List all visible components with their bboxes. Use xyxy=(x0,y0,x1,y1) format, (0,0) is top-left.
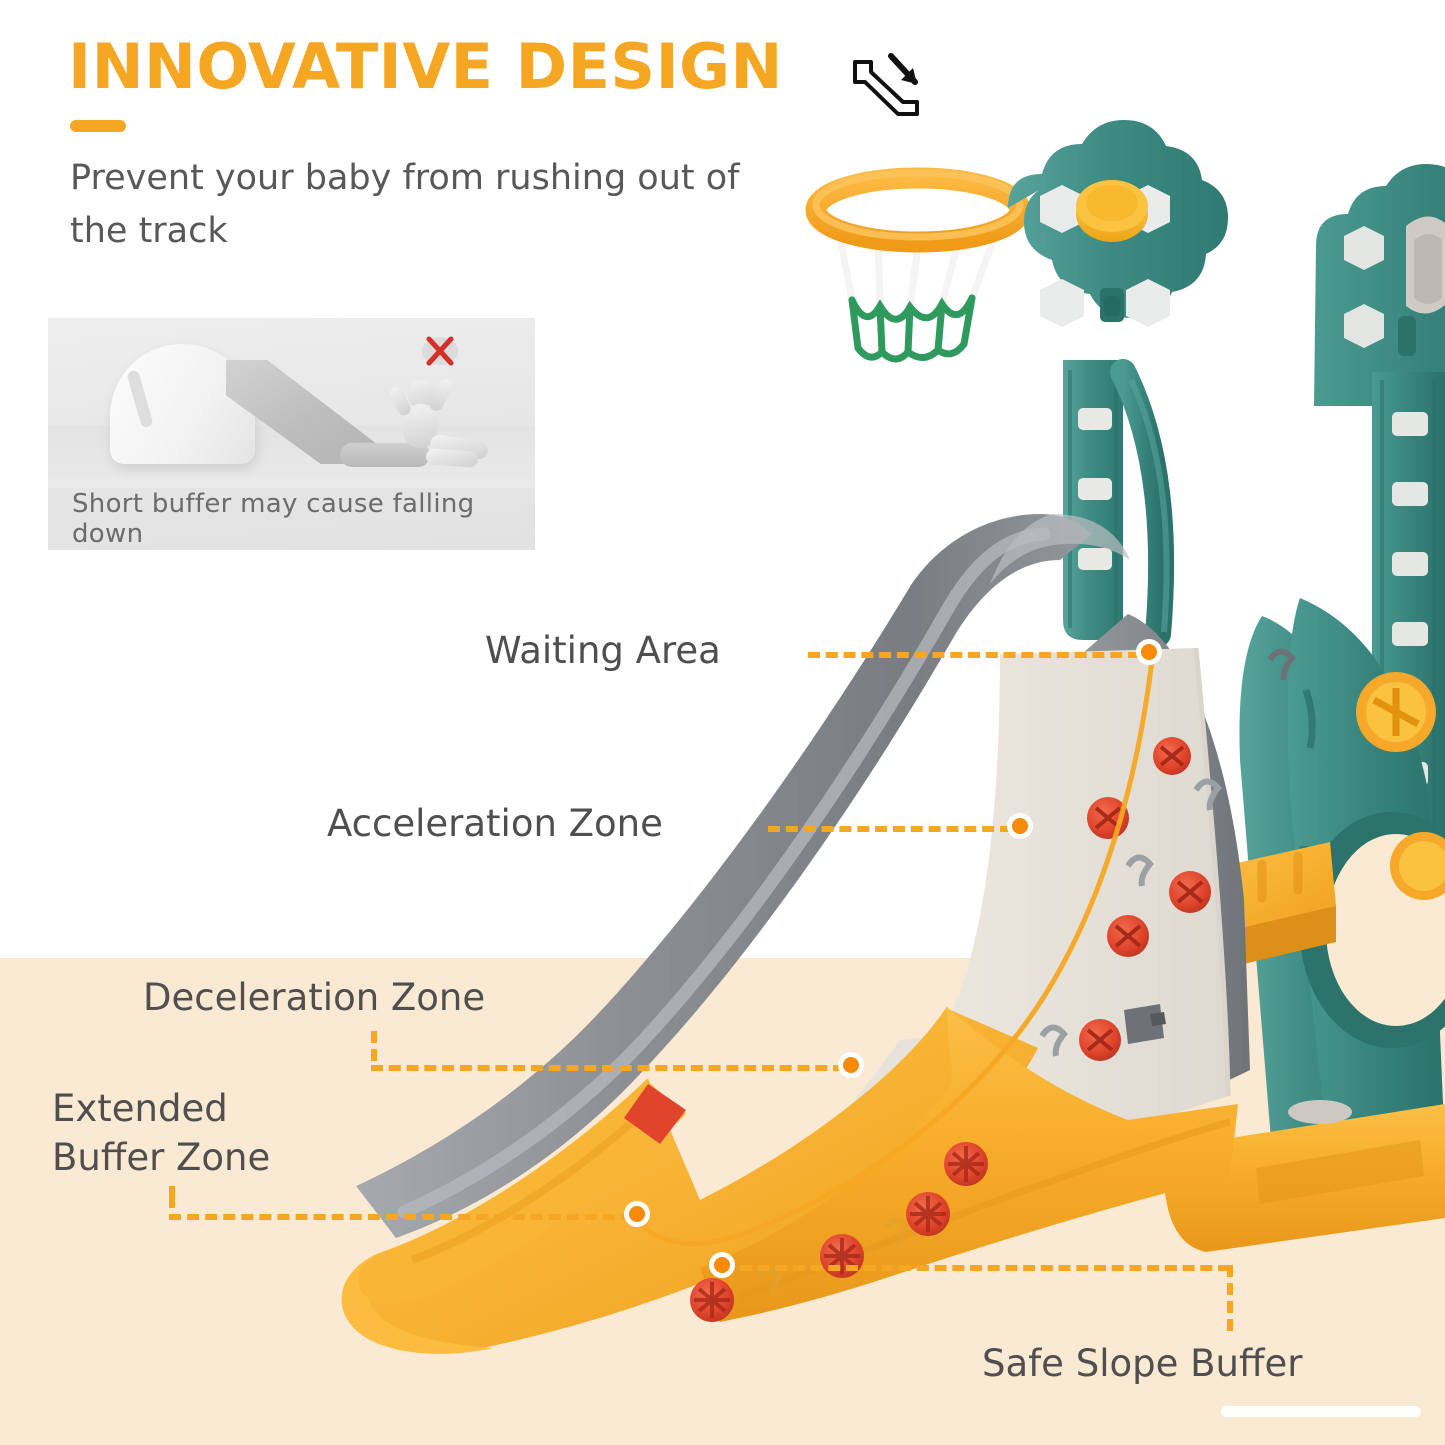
title-underline xyxy=(70,120,126,132)
inset-falling-child xyxy=(386,376,504,472)
leader-line-safe-slope-buffer xyxy=(722,1265,1230,1271)
callout-dot-safe-slope-buffer xyxy=(709,1252,735,1278)
callout-label-waiting-area: Waiting Area xyxy=(485,627,721,675)
bottom-white-bar xyxy=(1221,1406,1421,1417)
leader-riser-extended-buffer-zone xyxy=(169,1186,175,1208)
callout-label-extended-buffer-zone: Extended Buffer Zone xyxy=(52,1084,270,1182)
red-x-icon xyxy=(420,331,460,371)
leader-line-acceleration-zone xyxy=(768,826,1012,832)
leader-line-extended-buffer-zone xyxy=(169,1214,633,1220)
page-subtitle: Prevent your baby from rushing out of th… xyxy=(70,152,770,258)
leader-line-deceleration-zone xyxy=(371,1065,845,1071)
callout-dot-extended-buffer-zone xyxy=(624,1201,650,1227)
callout-label-acceleration-zone: Acceleration Zone xyxy=(327,800,663,848)
callout-dot-deceleration-zone xyxy=(838,1052,864,1078)
callout-dot-waiting-area xyxy=(1136,639,1162,665)
callout-label-deceleration-zone: Deceleration Zone xyxy=(143,974,485,1022)
leader-riser-deceleration-zone xyxy=(371,1031,377,1061)
warning-inset-photo xyxy=(48,318,535,488)
callout-label-safe-slope-buffer: Safe Slope Buffer xyxy=(982,1340,1302,1388)
leader-riser-safe-slope-buffer xyxy=(1227,1265,1233,1331)
leader-line-waiting-area xyxy=(808,652,1140,658)
slide-down-icon xyxy=(845,40,929,124)
callout-dot-acceleration-zone xyxy=(1007,813,1033,839)
warning-inset-caption: Short buffer may cause falling down xyxy=(48,488,535,550)
warning-inset-card: Short buffer may cause falling down xyxy=(48,318,535,550)
page-title: INNOVATIVE DESIGN xyxy=(68,36,783,98)
infographic-canvas: INNOVATIVE DESIGN Prevent your baby from… xyxy=(0,0,1445,1445)
